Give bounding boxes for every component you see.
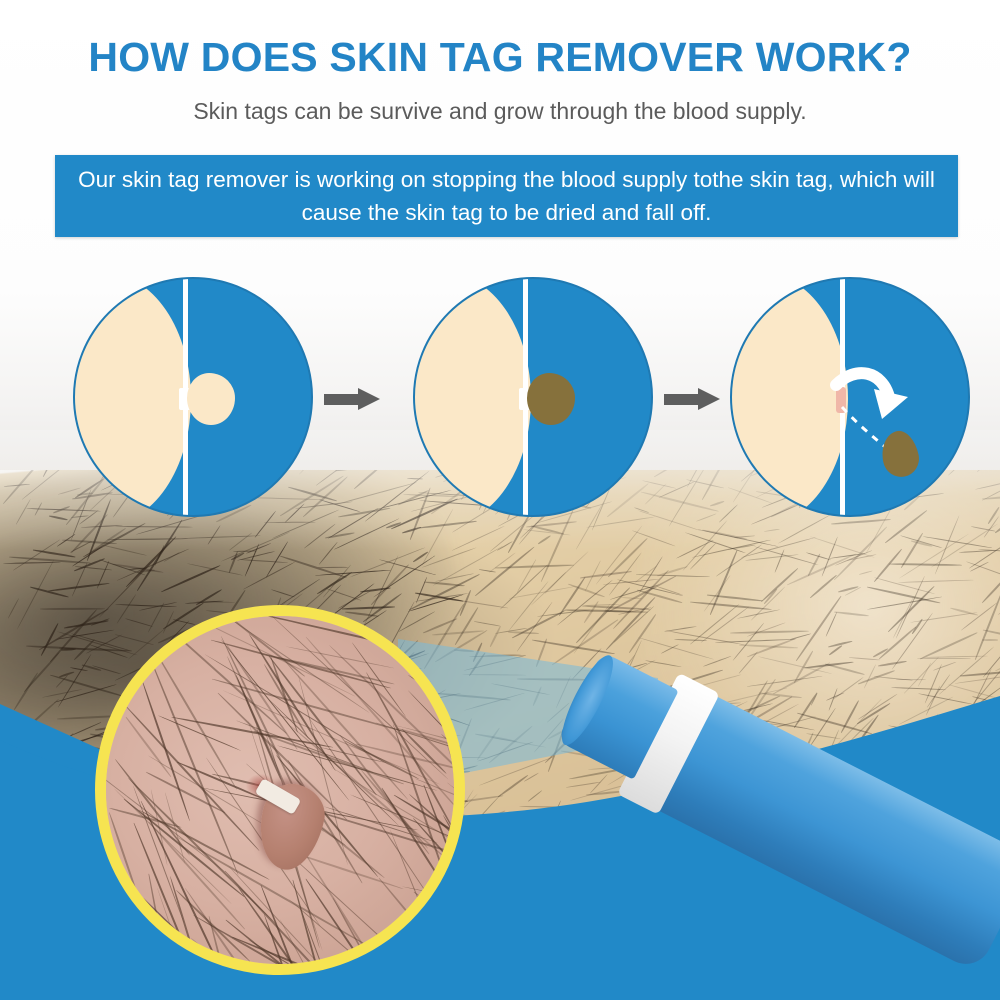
poster-root: HOW DOES SKIN TAG REMOVER WORK? Skin tag… xyxy=(0,0,1000,1000)
diagram-step-2 xyxy=(413,277,653,517)
arrow-right-icon xyxy=(324,388,382,410)
info-banner: Our skin tag remover is working on stopp… xyxy=(55,155,958,237)
diagram-step-1 xyxy=(73,277,313,517)
diagram-step-3 xyxy=(730,277,970,517)
arrow-head xyxy=(698,388,720,410)
skin-tag-dried xyxy=(527,373,575,425)
info-banner-text: Our skin tag remover is working on stopp… xyxy=(55,163,958,229)
curved-arrow-head xyxy=(874,389,908,419)
skin-layer xyxy=(73,277,191,517)
arrow-shaft xyxy=(664,394,700,405)
skin-layer xyxy=(413,277,531,517)
fall-off-annotation xyxy=(732,279,970,517)
arrow-right-icon xyxy=(664,388,722,410)
arrow-head xyxy=(358,388,380,410)
page-title: HOW DOES SKIN TAG REMOVER WORK? xyxy=(0,34,1000,81)
arrow-shaft xyxy=(324,394,360,405)
skin-tag-healthy xyxy=(187,373,235,425)
page-subtitle: Skin tags can be survive and grow throug… xyxy=(0,98,1000,125)
magnifier-circle xyxy=(95,605,465,975)
